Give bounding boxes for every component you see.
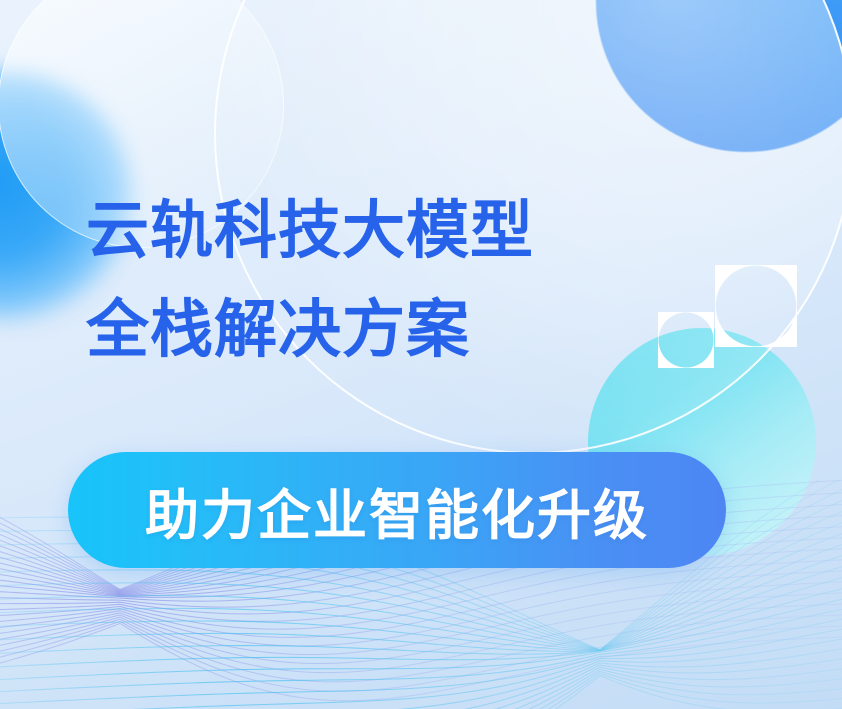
sparkle-icon: [715, 265, 797, 347]
headline-line-1: 云轨科技大模型: [86, 182, 706, 281]
page-title: 云轨科技大模型 全栈解决方案: [86, 182, 706, 380]
cta-button-label: 助力企业智能化升级: [145, 471, 649, 550]
cta-button[interactable]: 助力企业智能化升级: [68, 452, 726, 568]
poster-canvas: 云轨科技大模型 全栈解决方案 助力企业智能化升级: [0, 0, 842, 709]
headline-line-2: 全栈解决方案: [86, 281, 706, 380]
